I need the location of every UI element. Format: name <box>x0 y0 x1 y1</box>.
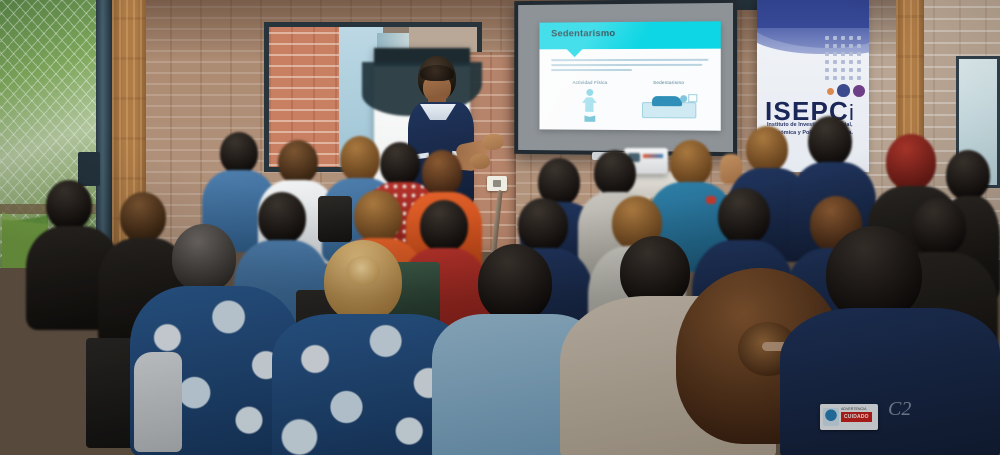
presenter-hand-right <box>482 134 504 150</box>
slide-figure-sedentary: Sedentarismo <box>637 80 699 122</box>
arm-sleeve <box>134 352 182 452</box>
standing-person-legs <box>584 111 595 122</box>
handwritten-mark: C2 <box>888 398 911 421</box>
power-outlet-icon <box>487 176 507 191</box>
head <box>718 188 770 244</box>
warning-sticker: ADVERTENCIA CUIDADO <box>820 404 878 430</box>
sticker-logo-icon <box>823 408 839 426</box>
head <box>670 140 712 186</box>
sticker-warning-label: CUIDADO <box>841 412 872 422</box>
sticker-top-text: ADVERTENCIA <box>841 407 867 411</box>
slide-figure-caption: Actividad Física <box>559 80 620 85</box>
reclining-head <box>680 95 687 102</box>
slide-text-line <box>551 64 702 67</box>
head <box>594 150 636 196</box>
head <box>746 126 788 172</box>
audience-member-front <box>780 252 1000 455</box>
slide-title: Sedentarismo <box>551 28 615 39</box>
slide-surface: Sedentarismo Actividad Física Sedentaris… <box>539 21 720 130</box>
head <box>46 180 92 230</box>
head <box>886 134 936 190</box>
reclining-body <box>651 96 681 106</box>
head <box>946 150 990 200</box>
accent-dot-orange <box>827 88 834 95</box>
banner-dot-grid <box>823 34 863 80</box>
person-on-couch-icon <box>637 88 699 122</box>
slide-body: Actividad Física Sedentarismo <box>539 49 720 123</box>
presenter-hairline <box>420 65 454 81</box>
head <box>172 224 236 292</box>
slide-text-line <box>551 69 632 71</box>
head <box>912 198 966 256</box>
head <box>808 116 852 166</box>
head <box>478 244 552 322</box>
chair-back <box>318 196 352 242</box>
slide-figure-activity: Actividad Física <box>559 80 620 122</box>
head <box>422 150 462 196</box>
slide-figure-caption: Sedentarismo <box>637 80 699 85</box>
television-shape <box>688 95 697 103</box>
torso <box>780 308 1000 455</box>
standing-person-icon <box>559 88 620 122</box>
projection-screen: Sedentarismo Actividad Física Sedentaris… <box>514 0 737 156</box>
photo-scene: a Sedentarismo Actividad Física <box>0 0 1000 455</box>
head <box>354 190 402 242</box>
slide-text-line <box>551 59 708 62</box>
hair-bun <box>346 256 380 286</box>
slide-figures: Actividad Física Sedentarismo <box>551 80 708 123</box>
slide-header-band: Sedentarismo <box>539 21 720 49</box>
head <box>278 140 318 184</box>
